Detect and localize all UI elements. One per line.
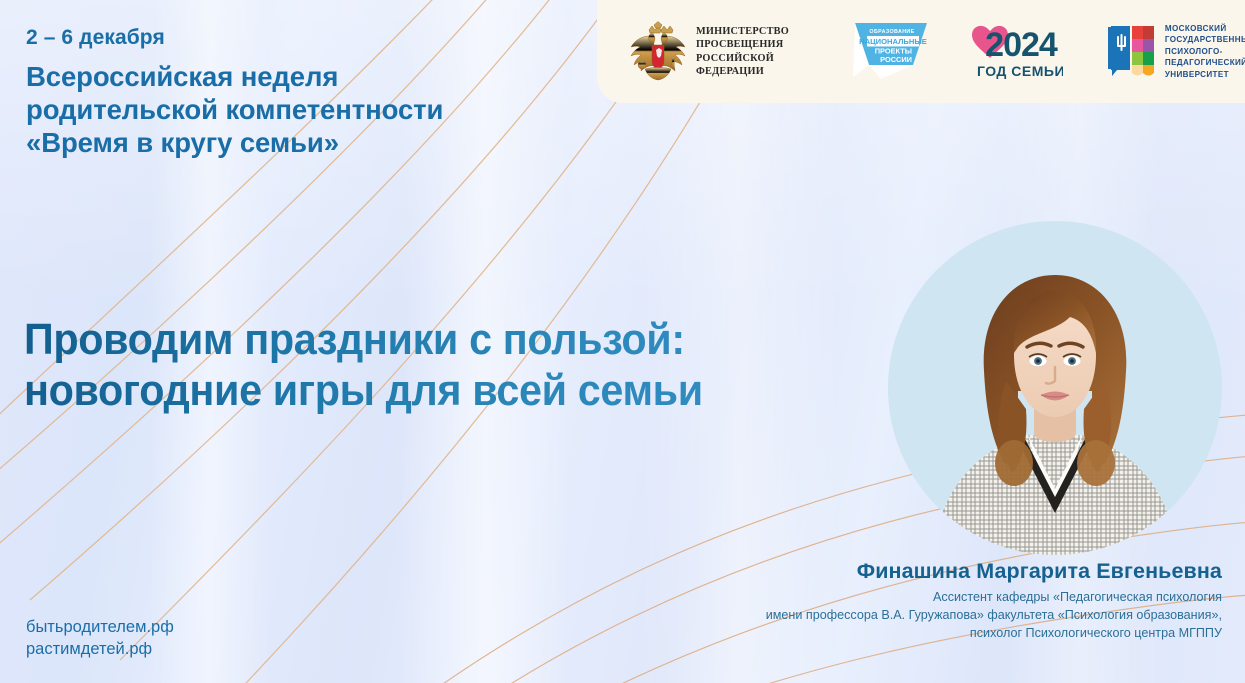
avatar [888, 221, 1222, 555]
national-projects-top-label: ОБРАЗОВАНИЕ [869, 29, 914, 35]
mgppu-logo: МОСКОВСКИЙ ГОСУДАРСТВЕННЫЙ ПСИХОЛОГО- ПЕ… [1105, 23, 1245, 80]
mgppu-logo-text: МОСКОВСКИЙ ГОСУДАРСТВЕННЫЙ ПСИХОЛОГО- ПЕ… [1165, 23, 1245, 80]
page-title: Проводим праздники с пользой: новогодние… [24, 314, 703, 417]
speaker-block: Финашина Маргарита Евгеньевна Ассистент … [582, 559, 1222, 643]
poster-canvas: МИНИСТЕРСТВО ПРОСВЕЩЕНИЯ РОССИЙСКОЙ ФЕДЕ… [0, 0, 1245, 683]
event-date: 2 – 6 декабря [26, 26, 165, 50]
year-of-family-caption: ГОД СЕМЬИ [977, 63, 1063, 79]
speaker-role: Ассистент кафедры «Педагогическая психол… [582, 589, 1222, 643]
national-projects-line3: РОССИИ [880, 55, 912, 64]
event-name: Всероссийская неделя родительской компет… [26, 60, 443, 159]
website-links[interactable]: бытьродителем.рф растимдетей.рф [26, 617, 174, 661]
year-of-family-year: 2024 [985, 26, 1058, 64]
logo-bar: МИНИСТЕРСТВО ПРОСВЕЩЕНИЯ РОССИЙСКОЙ ФЕДЕ… [597, 0, 1245, 103]
national-projects-logo: ОБРАЗОВАНИЕ НАЦИОНАЛЬНЫЕ ПРОЕКТЫ РОССИИ [851, 21, 931, 83]
speaker-name: Финашина Маргарита Евгеньевна [582, 559, 1222, 584]
speaker-portrait-illustration [888, 221, 1222, 555]
mgppu-book-mark-icon [1105, 23, 1157, 80]
double-headed-eagle-icon [629, 21, 687, 83]
ministry-logo-text: МИНИСТЕРСТВО ПРОСВЕЩЕНИЯ РОССИЙСКОЙ ФЕДЕ… [696, 25, 789, 78]
national-projects-line1: НАЦИОНАЛЬНЫЕ [859, 37, 927, 46]
ministry-logo: МИНИСТЕРСТВО ПРОСВЕЩЕНИЯ РОССИЙСКОЙ ФЕДЕ… [629, 21, 789, 83]
year-of-family-logo: 2024 ГОД СЕМЬИ [971, 20, 1063, 84]
